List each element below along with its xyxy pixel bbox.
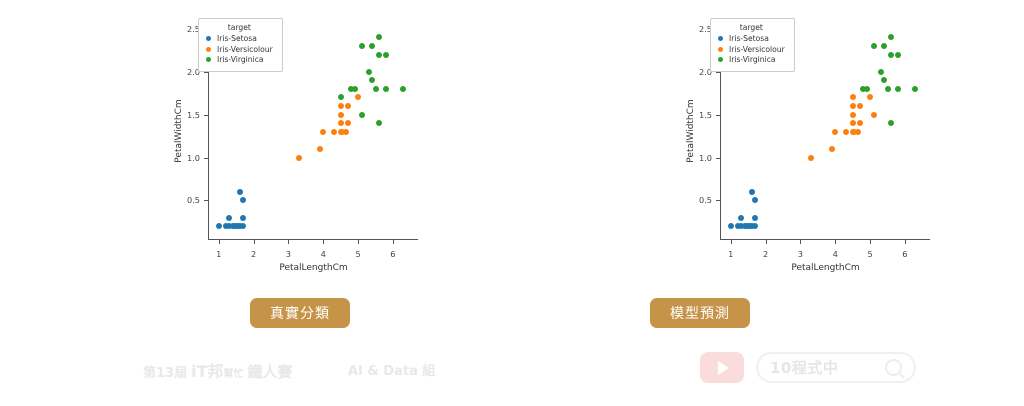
scatter-point xyxy=(881,43,887,49)
scatter-point xyxy=(855,129,861,135)
x-tick-label: 1 xyxy=(728,249,733,259)
x-tick xyxy=(870,240,871,244)
legend-label-versicolour: Iris-Versicolour xyxy=(729,45,785,54)
legend-marker-versicolour xyxy=(718,47,723,52)
chart-legend: target Iris-Setosa Iris-Versicolour Iris… xyxy=(710,18,795,72)
scatter-point xyxy=(857,103,863,109)
x-tick-label: 5 xyxy=(867,249,872,259)
scatter-point xyxy=(752,223,758,229)
panel-true-classification: PetalLengthCm PetalWidthCm 1234560.51.01… xyxy=(0,0,512,290)
watermark-search-box: 10程式中 xyxy=(756,352,916,383)
scatter-point xyxy=(895,52,901,58)
scatter-point xyxy=(808,155,814,161)
scatter-point xyxy=(752,215,758,221)
scatter-point xyxy=(240,215,246,221)
x-tick-label: 3 xyxy=(286,249,291,259)
scatter-point xyxy=(352,86,358,92)
legend-label-versicolour: Iris-Versicolour xyxy=(217,45,273,54)
scatter-point xyxy=(338,103,344,109)
x-tick xyxy=(323,240,324,244)
legend-marker-versicolour xyxy=(206,47,211,52)
x-tick xyxy=(905,240,906,244)
play-triangle xyxy=(718,361,729,375)
x-tick xyxy=(766,240,767,244)
scatter-point xyxy=(359,112,365,118)
scatter-point xyxy=(832,129,838,135)
x-tick xyxy=(835,240,836,244)
scatter-point xyxy=(240,223,246,229)
x-tick-label: 2 xyxy=(251,249,256,259)
scatter-point xyxy=(359,43,365,49)
x-tick-label: 2 xyxy=(763,249,768,259)
scatter-point xyxy=(850,120,856,126)
y-tick-label: 1.5 xyxy=(699,110,712,120)
y-tick-label: 0.5 xyxy=(187,195,200,205)
legend-marker-setosa xyxy=(206,36,211,41)
y-axis-title: PetalWidthCm xyxy=(686,99,696,162)
y-tick xyxy=(204,115,208,116)
y-tick xyxy=(204,72,208,73)
caption-button-true-classification[interactable]: 真實分類 xyxy=(250,298,350,328)
legend-item-virginica[interactable]: Iris-Virginica xyxy=(206,55,273,64)
scatter-point xyxy=(867,94,873,100)
scatter-point xyxy=(850,94,856,100)
scatter-point xyxy=(355,94,361,100)
scatter-point xyxy=(317,146,323,152)
x-tick xyxy=(800,240,801,244)
y-tick xyxy=(716,158,720,159)
scatter-point xyxy=(376,52,382,58)
scatter-point xyxy=(338,120,344,126)
y-tick xyxy=(204,158,208,159)
scatter-point xyxy=(345,120,351,126)
scatter-plot-true: PetalLengthCm PetalWidthCm 1234560.51.01… xyxy=(180,12,440,274)
y-tick xyxy=(716,72,720,73)
scatter-point xyxy=(888,34,894,40)
scatter-point xyxy=(895,86,901,92)
legend-item-versicolour[interactable]: Iris-Versicolour xyxy=(206,45,273,54)
x-axis-title: PetalLengthCm xyxy=(791,263,859,273)
x-tick xyxy=(219,240,220,244)
legend-marker-virginica xyxy=(206,57,211,62)
legend-title: target xyxy=(206,23,273,32)
legend-label-virginica: Iris-Virginica xyxy=(729,55,776,64)
panel-model-prediction: PetalLengthCm PetalWidthCm 1234560.51.01… xyxy=(512,0,1024,290)
y-tick xyxy=(716,200,720,201)
caption-button-model-prediction[interactable]: 模型預測 xyxy=(650,298,750,328)
x-tick xyxy=(358,240,359,244)
legend-item-setosa[interactable]: Iris-Setosa xyxy=(718,34,785,43)
scatter-point xyxy=(296,155,302,161)
scatter-point xyxy=(829,146,835,152)
scatter-point xyxy=(881,77,887,83)
scatter-point xyxy=(345,103,351,109)
scatter-point xyxy=(216,223,222,229)
scatter-point xyxy=(850,103,856,109)
scatter-point xyxy=(331,129,337,135)
play-icon xyxy=(700,352,744,383)
brand-edition: 第13屆 xyxy=(143,362,187,381)
x-tick-label: 1 xyxy=(216,249,221,259)
x-tick xyxy=(288,240,289,244)
scatter-point xyxy=(226,215,232,221)
scatter-point xyxy=(373,86,379,92)
scatter-point xyxy=(850,112,856,118)
scatter-point xyxy=(343,129,349,135)
scatter-point xyxy=(369,77,375,83)
scatter-plot-prediction: PetalLengthCm PetalWidthCm 1234560.51.01… xyxy=(692,12,952,274)
scatter-point xyxy=(885,86,891,92)
scatter-point xyxy=(864,86,870,92)
scatter-point xyxy=(878,69,884,75)
scatter-point xyxy=(752,197,758,203)
y-tick xyxy=(204,200,208,201)
y-tick-label: 0.5 xyxy=(699,195,712,205)
scatter-point xyxy=(240,197,246,203)
x-tick-label: 6 xyxy=(902,249,907,259)
legend-label-setosa: Iris-Setosa xyxy=(729,34,769,43)
y-tick xyxy=(716,115,720,116)
scatter-point xyxy=(728,223,734,229)
scatter-point xyxy=(366,69,372,75)
scatter-point xyxy=(912,86,918,92)
x-tick-label: 6 xyxy=(390,249,395,259)
magnifier-icon xyxy=(885,359,902,376)
legend-label-setosa: Iris-Setosa xyxy=(217,34,257,43)
legend-label-virginica: Iris-Virginica xyxy=(217,55,264,64)
scatter-point xyxy=(237,189,243,195)
scatter-point xyxy=(376,34,382,40)
scatter-point xyxy=(338,94,344,100)
brand-ironman: 鐵人賽 xyxy=(248,361,293,382)
x-tick-label: 4 xyxy=(833,249,838,259)
scatter-point xyxy=(871,112,877,118)
legend-title: target xyxy=(718,23,785,32)
watermark-search-text: 10程式中 xyxy=(770,357,838,378)
scatter-point xyxy=(400,86,406,92)
legend-item-virginica[interactable]: Iris-Virginica xyxy=(718,55,785,64)
scatter-point xyxy=(843,129,849,135)
y-tick-label: 1.0 xyxy=(187,153,200,163)
scatter-point xyxy=(888,52,894,58)
y-tick-label: 1.0 xyxy=(699,153,712,163)
scatter-point xyxy=(383,52,389,58)
scatter-point xyxy=(376,120,382,126)
brand-help: 幫忙 xyxy=(224,365,244,380)
chart-legend: target Iris-Setosa Iris-Versicolour Iris… xyxy=(198,18,283,72)
y-tick-label: 1.5 xyxy=(187,110,200,120)
scatter-point xyxy=(857,120,863,126)
legend-item-versicolour[interactable]: Iris-Versicolour xyxy=(718,45,785,54)
y-axis-title: PetalWidthCm xyxy=(174,99,184,162)
event-branding: 第13屆 iT邦 幫忙 鐵人賽 xyxy=(143,358,293,382)
scatter-point xyxy=(871,43,877,49)
x-axis-title: PetalLengthCm xyxy=(279,263,347,273)
brand-ithome: iT邦 xyxy=(191,358,223,382)
x-tick-label: 3 xyxy=(798,249,803,259)
scatter-point xyxy=(320,129,326,135)
legend-marker-virginica xyxy=(718,57,723,62)
scatter-point xyxy=(338,112,344,118)
x-tick xyxy=(393,240,394,244)
legend-item-setosa[interactable]: Iris-Setosa xyxy=(206,34,273,43)
scatter-point xyxy=(749,189,755,195)
x-tick xyxy=(731,240,732,244)
scatter-point xyxy=(383,86,389,92)
scatter-point xyxy=(369,43,375,49)
scatter-point xyxy=(738,215,744,221)
brand-group-label: AI & Data 組 xyxy=(348,360,435,379)
scatter-point xyxy=(888,120,894,126)
watermark: 10程式中 xyxy=(700,352,916,383)
x-tick-label: 5 xyxy=(355,249,360,259)
page-root: PetalLengthCm PetalWidthCm 1234560.51.01… xyxy=(0,0,1024,406)
legend-marker-setosa xyxy=(718,36,723,41)
x-tick xyxy=(254,240,255,244)
x-tick-label: 4 xyxy=(321,249,326,259)
